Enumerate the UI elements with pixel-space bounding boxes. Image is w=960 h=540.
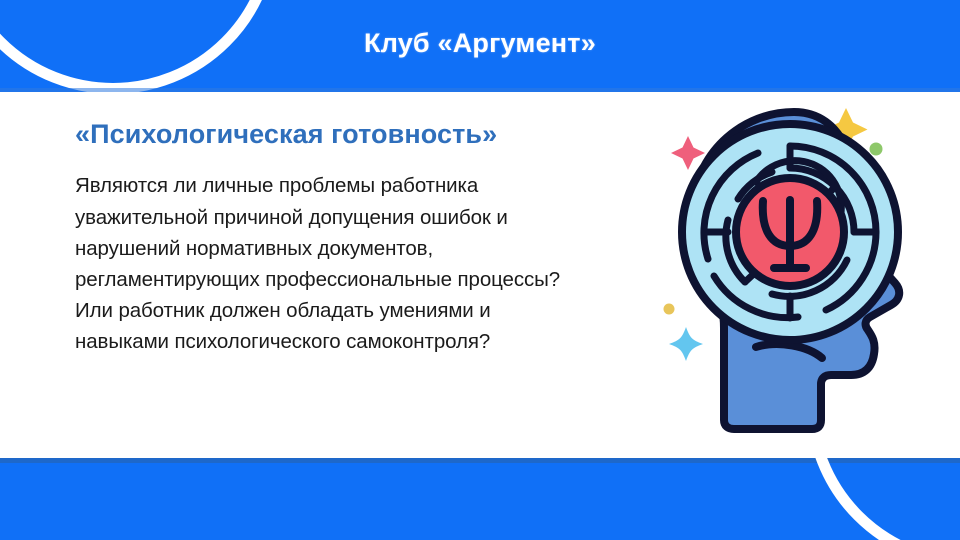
footer-band — [0, 458, 960, 540]
main-content: «Психологическая готовность» Являются ли… — [75, 118, 695, 357]
headline: «Психологическая готовность» — [75, 118, 695, 150]
page-title: Клуб «Аргумент» — [0, 0, 960, 92]
slide: Клуб «Аргумент» «Психологическая готовно… — [0, 0, 960, 540]
yellow-dot-sparkle — [664, 304, 675, 315]
pink-star-sparkle — [671, 136, 705, 170]
cyan-cross-sparkle — [669, 327, 703, 361]
green-dot-sparkle — [870, 143, 883, 156]
footer-arc-decoration — [806, 458, 960, 540]
head-illustration — [648, 96, 948, 444]
body-paragraph: Являются ли личные проблемы работника ув… — [75, 170, 695, 357]
